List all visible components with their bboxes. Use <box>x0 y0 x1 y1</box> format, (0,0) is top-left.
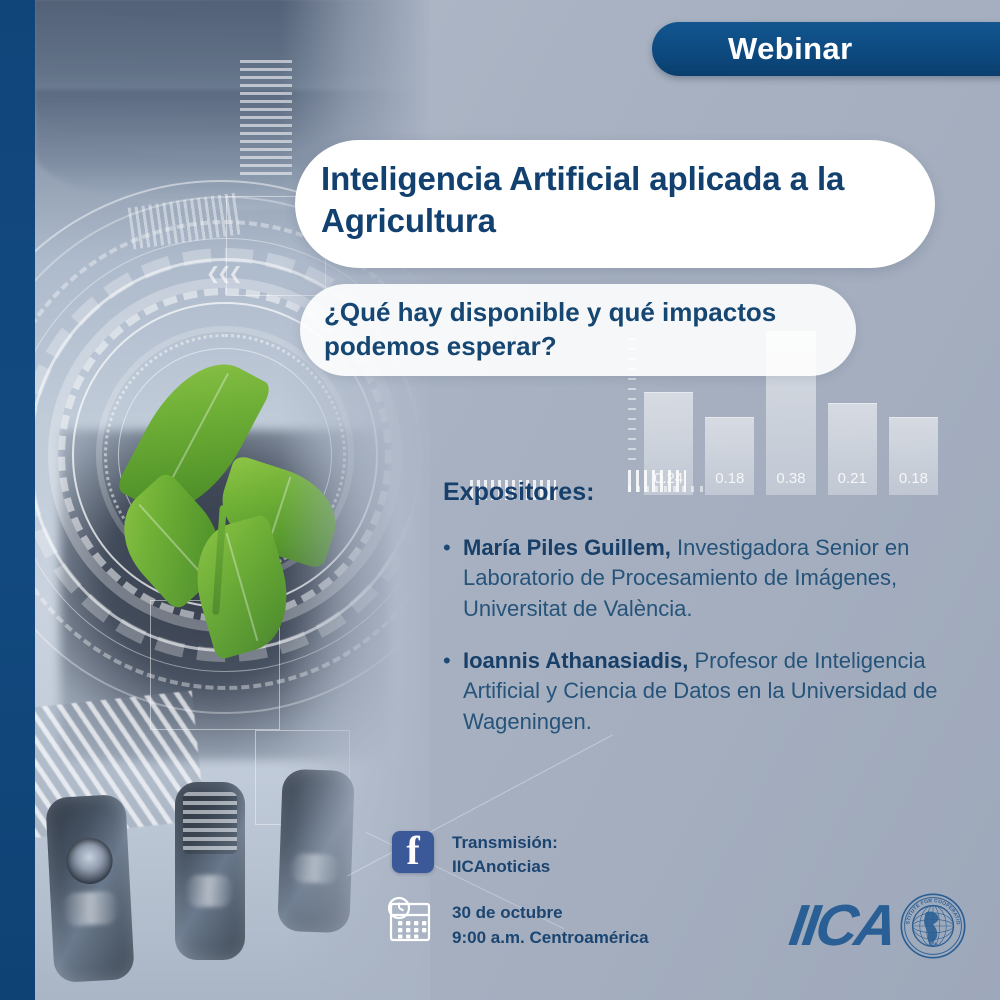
speaker-list-item: • María Piles Guillem, Investigadora Sen… <box>443 533 943 624</box>
speakers-heading: Expositores: <box>443 478 943 507</box>
subtitle-card: ¿Qué hay disponible y qué impactos podem… <box>300 284 856 376</box>
subtitle-line-2: podemos esperar? <box>324 330 822 364</box>
poster-canvas: ❮❮❮ ❮❮❮ 0. <box>0 0 1000 1000</box>
event-time: 9:00 a.m. Centroamérica <box>452 926 649 951</box>
subtitle-line-1: ¿Qué hay disponible y qué impactos <box>324 296 822 330</box>
iica-logo: IICA INTE <box>790 893 966 959</box>
event-date: 30 de octubre <box>452 901 649 926</box>
speakers-section: Expositores: • María Piles Guillem, Inve… <box>443 478 943 759</box>
webinar-badge-label: Webinar <box>728 31 853 67</box>
broadcast-text: Transmisión: IICAnoticias <box>452 831 558 879</box>
speaker-description: Ioannis Athanasiadis, Profesor de Inteli… <box>463 646 943 737</box>
speaker-name: Ioannis Athanasiadis, <box>463 648 688 673</box>
facebook-icon[interactable] <box>392 831 434 873</box>
bullet-glyph: • <box>443 646 463 737</box>
chart-bar-item: 0.18 <box>889 300 938 495</box>
svg-text:IICA: IICA <box>928 941 938 947</box>
left-navy-strip <box>0 0 35 1000</box>
iica-wordmark: IICA <box>786 897 898 955</box>
broadcast-row: Transmisión: IICAnoticias <box>392 831 558 879</box>
broadcast-channel: IICAnoticias <box>452 855 558 879</box>
speaker-description: María Piles Guillem, Investigadora Senio… <box>463 533 943 624</box>
title-card: Inteligencia Artificial aplicada a la Ag… <box>295 140 935 268</box>
webinar-badge: Webinar <box>652 22 1000 76</box>
title-line-1: Inteligencia Artificial aplicada a la <box>321 158 895 200</box>
iica-seal-icon: INTER-AMERICAN INSTITUTE FOR COOPERATION… <box>900 893 966 959</box>
bullet-glyph: • <box>443 533 463 624</box>
datetime-row: 30 de octubre 9:00 a.m. Centroamérica <box>386 895 649 950</box>
title-line-2: Agricultura <box>321 200 895 242</box>
calendar-clock-icon <box>386 895 438 947</box>
broadcast-label: Transmisión: <box>452 831 558 855</box>
speaker-name: María Piles Guillem, <box>463 535 671 560</box>
datetime-text: 30 de octubre 9:00 a.m. Centroamérica <box>452 901 649 950</box>
speaker-list-item: • Ioannis Athanasiadis, Profesor de Inte… <box>443 646 943 737</box>
